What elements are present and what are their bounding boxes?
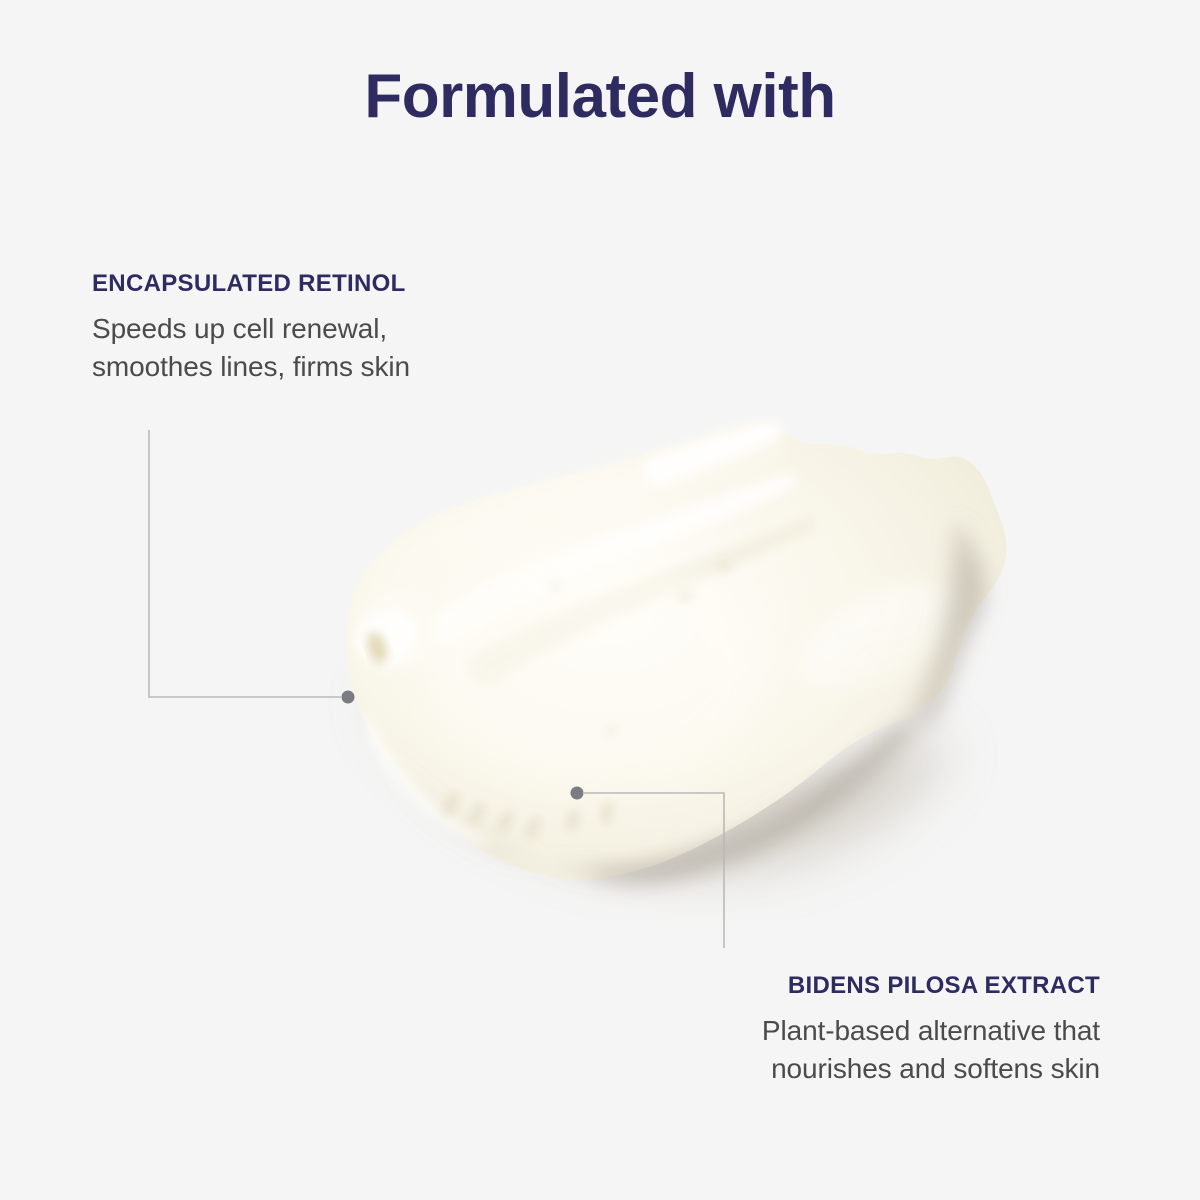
callout-encapsulated-retinol: ENCAPSULATED RETINOL Speeds up cell rene…	[92, 270, 410, 387]
callout-body-bidens-pilosa-extract: Plant-based alternative that nourishes a…	[762, 1012, 1100, 1089]
page-title: Formulated with	[0, 64, 1200, 129]
callout-bidens-pilosa-extract: BIDENS PILOSA EXTRACT Plant-based altern…	[762, 972, 1100, 1089]
callout-heading-bidens-pilosa-extract: BIDENS PILOSA EXTRACT	[762, 972, 1100, 1000]
cream-swatch-image	[255, 400, 1030, 920]
formulated-with-infographic: Formulated with	[0, 0, 1200, 1200]
callout-heading-encapsulated-retinol: ENCAPSULATED RETINOL	[92, 270, 410, 298]
callout-body-encapsulated-retinol: Speeds up cell renewal, smoothes lines, …	[92, 310, 410, 387]
